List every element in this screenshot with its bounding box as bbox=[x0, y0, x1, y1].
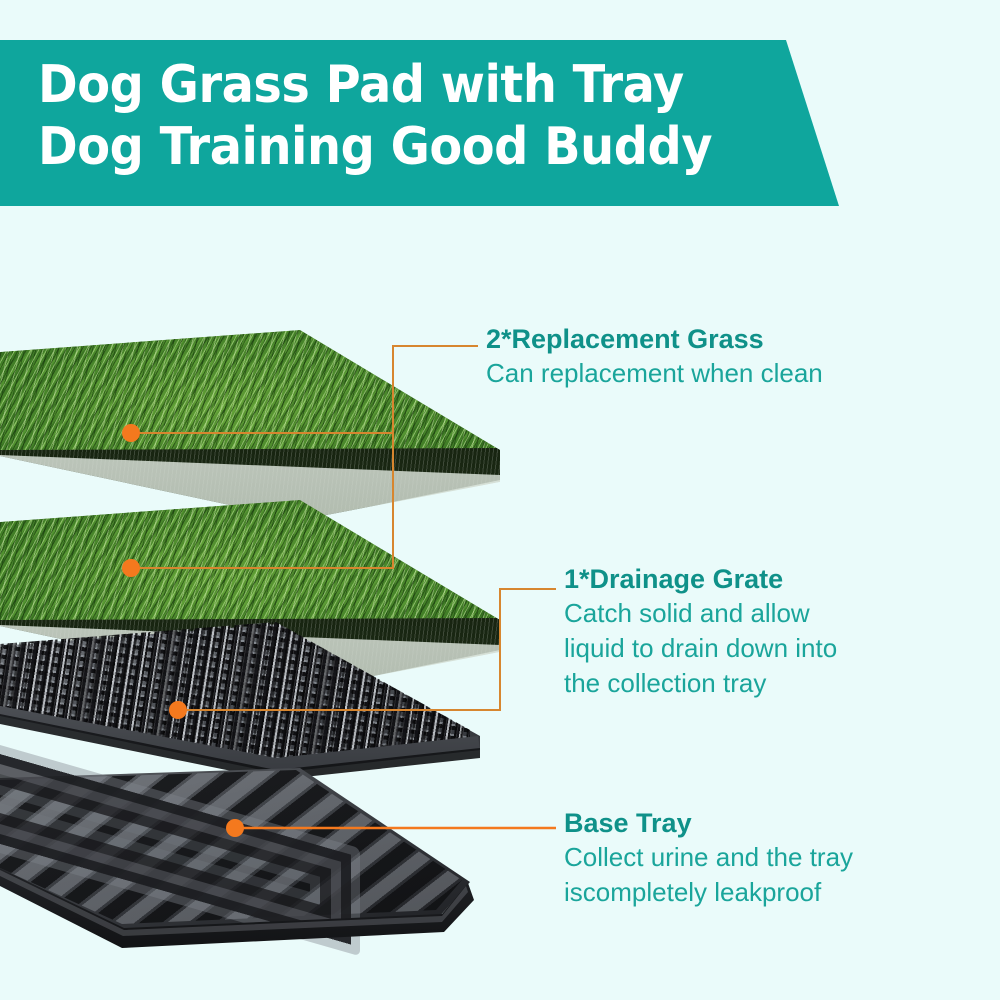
callout-body-line: the collection tray bbox=[564, 666, 837, 701]
callout-title: Base Tray bbox=[564, 806, 853, 840]
base-tray-layer bbox=[0, 760, 560, 960]
callout-replacement-grass: 2*Replacement Grass Can replacement when… bbox=[486, 322, 823, 391]
page-title: Dog Grass Pad with Tray Dog Training Goo… bbox=[38, 54, 712, 178]
title-line-2: Dog Training Good Buddy bbox=[38, 116, 712, 178]
callout-body: Collect urine and the tray iscompletely … bbox=[564, 840, 853, 910]
product-infographic: Dog Grass Pad with Tray Dog Training Goo… bbox=[0, 0, 1000, 1000]
callout-drainage-grate: 1*Drainage Grate Catch solid and allow l… bbox=[564, 562, 837, 701]
callout-title: 2*Replacement Grass bbox=[486, 322, 823, 356]
callout-body-line: Collect urine and the tray bbox=[564, 840, 853, 875]
callout-body: Can replacement when clean bbox=[486, 356, 823, 391]
grass-pad-top-layer bbox=[0, 330, 560, 530]
callout-title: 1*Drainage Grate bbox=[564, 562, 837, 596]
callout-body-line: iscompletely leakproof bbox=[564, 875, 853, 910]
title-line-1: Dog Grass Pad with Tray bbox=[38, 54, 712, 116]
callout-body-line: Can replacement when clean bbox=[486, 356, 823, 391]
callout-base-tray: Base Tray Collect urine and the tray isc… bbox=[564, 806, 853, 910]
callout-body: Catch solid and allow liquid to drain do… bbox=[564, 596, 837, 701]
header-banner: Dog Grass Pad with Tray Dog Training Goo… bbox=[0, 40, 840, 206]
callout-body-line: liquid to drain down into bbox=[564, 631, 837, 666]
callout-body-line: Catch solid and allow bbox=[564, 596, 837, 631]
